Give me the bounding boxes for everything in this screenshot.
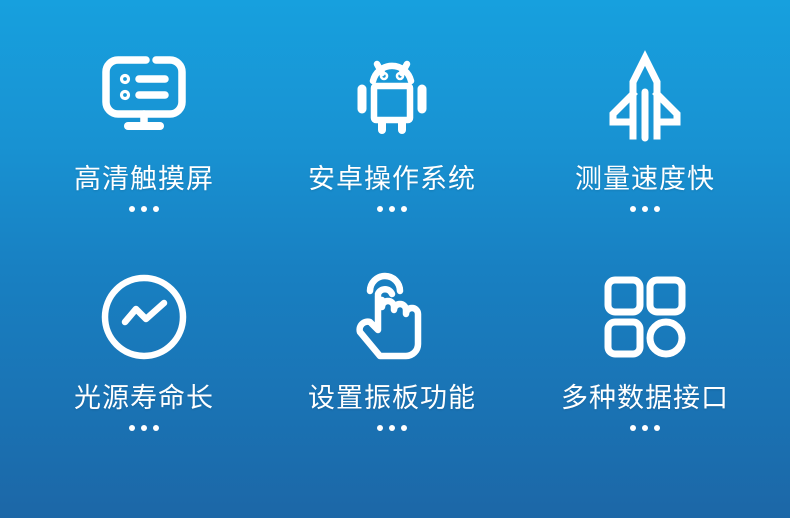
dot [377,206,383,212]
tap-hand-icon [337,267,447,367]
feature-dots [377,425,407,431]
android-robot-icon [337,48,447,144]
rocket-up-icon [590,48,700,144]
feature-card-monitor[interactable]: 高清触摸屏 [21,36,267,255]
feature-label: 测量速度快 [575,166,715,193]
feature-label: 光源寿命长 [74,385,214,412]
dot [141,206,147,212]
dot [401,425,407,431]
dot [153,206,159,212]
feature-label: 高清触摸屏 [74,166,214,193]
feature-card-waveform[interactable]: 光源寿命长 [21,255,267,474]
dot [654,206,660,212]
feature-dots [630,425,660,431]
feature-dots [377,206,407,212]
feature-card-interfaces[interactable]: 多种数据接口 [522,255,768,474]
dot [654,425,660,431]
dot [642,425,648,431]
dot [141,425,147,431]
feature-label: 多种数据接口 [561,385,729,412]
dot [389,425,395,431]
feature-card-android[interactable]: 安卓操作系统 [269,36,515,255]
dot [129,206,135,212]
grid-interfaces-icon [590,267,700,367]
feature-dots [129,206,159,212]
dot [153,425,159,431]
feature-banner: 高清触摸屏 安卓操作系统 [0,0,790,518]
dot [630,206,636,212]
feature-dots [129,425,159,431]
dot [642,206,648,212]
feature-card-rocket[interactable]: 测量速度快 [522,36,768,255]
monitor-list-icon [89,48,199,144]
waveform-circle-icon [89,267,199,367]
dot [401,206,407,212]
dot [377,425,383,431]
feature-dots [630,206,660,212]
dot [129,425,135,431]
dot [630,425,636,431]
feature-label: 安卓操作系统 [308,166,476,193]
dot [389,206,395,212]
feature-label: 设置振板功能 [308,385,476,412]
feature-card-tap-hand[interactable]: 设置振板功能 [269,255,515,474]
